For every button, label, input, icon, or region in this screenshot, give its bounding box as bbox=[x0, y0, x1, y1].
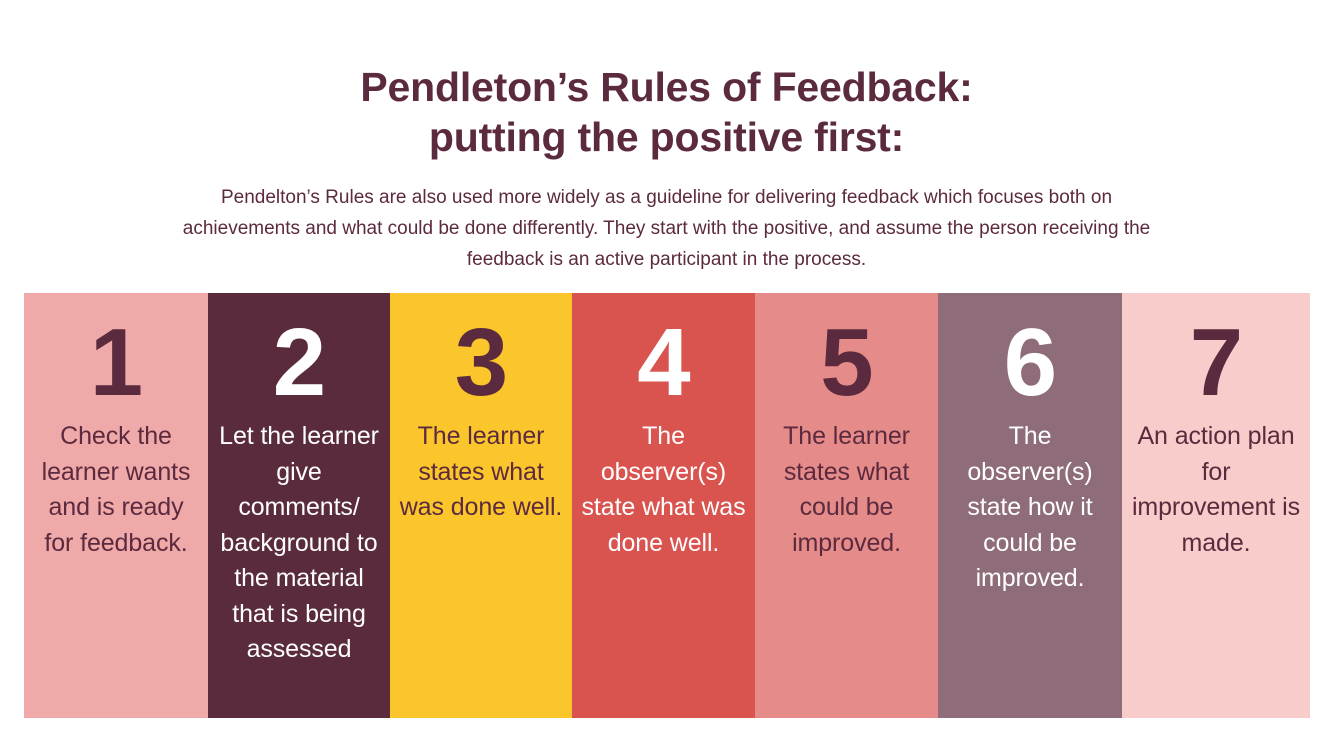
rule-text-5: The learner states what could be improve… bbox=[761, 419, 932, 561]
page-subtitle: Pendelton’s Rules are also used more wid… bbox=[162, 182, 1172, 275]
page-title-line-2: putting the positive first: bbox=[117, 112, 1217, 162]
rule-column-2: 2 Let the learner give comments/ backgro… bbox=[208, 293, 390, 718]
rule-text-7: An action plan for improvement is made. bbox=[1128, 419, 1304, 561]
rule-text-3: The learner states what was done well. bbox=[396, 419, 566, 526]
page-title: Pendleton’s Rules of Feedback: putting t… bbox=[117, 62, 1217, 162]
rule-number-3: 3 bbox=[455, 315, 507, 419]
rule-number-5: 5 bbox=[820, 315, 872, 419]
page-title-line-1: Pendleton’s Rules of Feedback: bbox=[117, 62, 1217, 112]
rule-column-7: 7 An action plan for improvement is made… bbox=[1122, 293, 1310, 718]
infographic-page: Pendleton’s Rules of Feedback: putting t… bbox=[0, 0, 1333, 752]
rule-column-4: 4 The observer(s) state what was done we… bbox=[572, 293, 755, 718]
rule-text-4: The observer(s) state what was done well… bbox=[578, 419, 749, 561]
rule-column-1: 1 Check the learner wants and is ready f… bbox=[24, 293, 208, 718]
rule-column-5: 5 The learner states what could be impro… bbox=[755, 293, 938, 718]
rule-text-6: The observer(s) state how it could be im… bbox=[944, 419, 1116, 597]
rule-text-1: Check the learner wants and is ready for… bbox=[30, 419, 202, 561]
rule-number-7: 7 bbox=[1190, 315, 1242, 419]
rule-number-2: 2 bbox=[273, 315, 325, 419]
rules-columns-band: 1 Check the learner wants and is ready f… bbox=[24, 293, 1310, 718]
rule-number-1: 1 bbox=[90, 315, 142, 419]
rule-text-2: Let the learner give comments/ backgroun… bbox=[214, 419, 384, 668]
header: Pendleton’s Rules of Feedback: putting t… bbox=[0, 0, 1333, 275]
rule-number-6: 6 bbox=[1004, 315, 1056, 419]
rule-column-3: 3 The learner states what was done well. bbox=[390, 293, 572, 718]
rule-number-4: 4 bbox=[637, 315, 689, 419]
rule-column-6: 6 The observer(s) state how it could be … bbox=[938, 293, 1122, 718]
